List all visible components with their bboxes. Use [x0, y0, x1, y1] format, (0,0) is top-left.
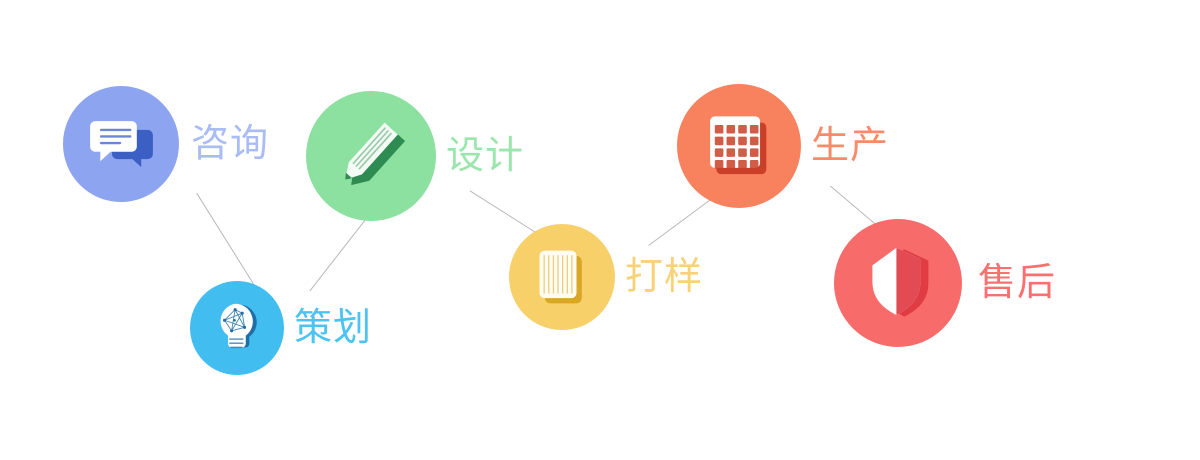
shield-icon: [858, 243, 938, 323]
node-circle-design[interactable]: [306, 91, 436, 221]
node-circle-aftersales[interactable]: [834, 219, 962, 347]
striped-card-icon: [529, 244, 595, 310]
node-label-sampling: 打样: [625, 258, 703, 296]
node-circle-planning[interactable]: [190, 281, 284, 375]
chat-bubbles-icon: [84, 108, 157, 181]
process-flow-diagram: 咨询 设计 策划: [0, 0, 1200, 460]
process-node-consult[interactable]: 咨询: [63, 86, 269, 202]
node-label-design: 设计: [446, 137, 524, 175]
node-circle-sampling[interactable]: [509, 224, 615, 330]
node-label-planning: 策划: [294, 309, 372, 347]
process-node-aftersales[interactable]: 售后: [834, 219, 1056, 347]
node-circle-consult[interactable]: [63, 86, 179, 202]
node-label-consult: 咨询: [191, 125, 269, 163]
node-circle-production[interactable]: [677, 84, 801, 208]
calendar-grid-icon: [700, 107, 778, 185]
connector-consult-to-planning: [197, 193, 256, 288]
process-node-sampling[interactable]: 打样: [509, 224, 703, 330]
node-label-production: 生产: [811, 127, 889, 165]
process-node-production[interactable]: 生产: [677, 84, 889, 208]
process-node-planning[interactable]: 策划: [190, 281, 372, 375]
node-label-aftersales: 售后: [978, 264, 1056, 302]
process-node-design[interactable]: 设计: [306, 91, 524, 221]
pencil-icon: [330, 116, 411, 197]
lightbulb-network-icon: [207, 299, 266, 358]
